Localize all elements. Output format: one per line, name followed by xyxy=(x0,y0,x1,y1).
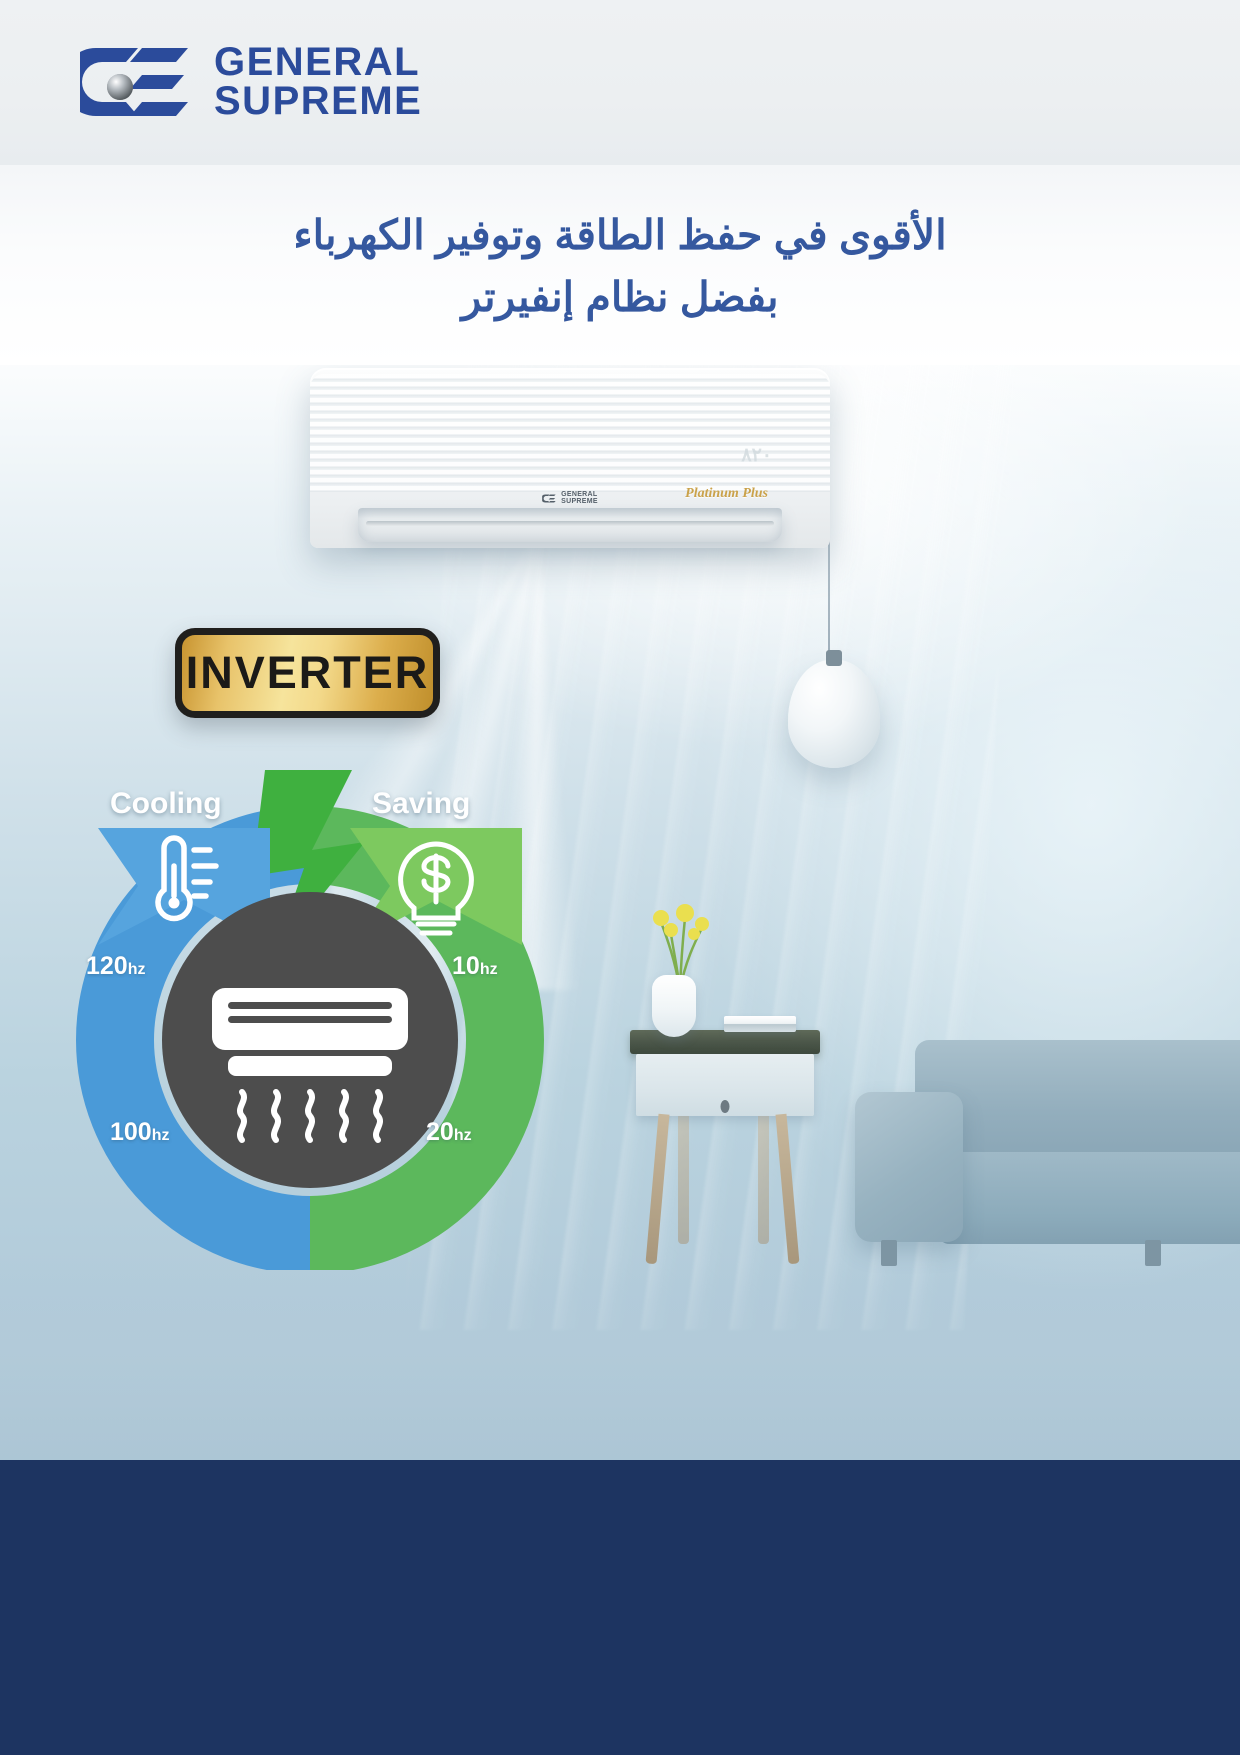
inverter-badge: INVERTER xyxy=(175,628,440,718)
table-leg xyxy=(678,1114,689,1244)
frequency-label-10hz: 10hz xyxy=(452,952,498,981)
general-supreme-monogram-icon xyxy=(542,493,556,504)
ac-louver xyxy=(358,508,782,542)
side-table xyxy=(630,1030,820,1270)
table-leg xyxy=(775,1114,799,1264)
page-title: الأقوى في حفظ الطاقة وتوفير الكهرباء بفض… xyxy=(0,205,1240,328)
sofa xyxy=(855,1040,1240,1310)
flower-vase xyxy=(652,975,696,1037)
sofa-seat xyxy=(939,1152,1240,1244)
cooling-label: Cooling xyxy=(110,787,222,821)
sofa-foot xyxy=(1145,1240,1161,1266)
table-top xyxy=(630,1030,820,1054)
air-conditioner-icon xyxy=(212,988,408,1140)
books-stack xyxy=(724,1016,796,1032)
ac-front-panel xyxy=(310,374,830,492)
ac-brand-mark: GENERAL SUPREME xyxy=(542,491,598,506)
headline-line-1: الأقوى في حفظ الطاقة وتوفير الكهرباء xyxy=(0,205,1240,267)
saving-label: Saving xyxy=(372,787,470,821)
headline-line-2: بفضل نظام إنفيرتر xyxy=(0,267,1240,329)
ac-display-readout: ۸۲۰ xyxy=(741,444,772,467)
drawer-knob xyxy=(721,1100,730,1113)
frequency-label-100hz: 100hz xyxy=(110,1118,170,1147)
table-leg xyxy=(645,1114,669,1264)
air-conditioner-product: ۸۲۰ GENERAL SUPREME Platinum Plus xyxy=(310,368,830,548)
frequency-label-20hz: 20hz xyxy=(426,1118,472,1147)
brand-name-line2: SUPREME xyxy=(214,82,422,121)
inverter-cycle-infographic: Cooling Saving 120hz 100hz 10hz 20hz xyxy=(60,740,560,1270)
table-leg xyxy=(758,1114,769,1244)
table-drawer xyxy=(636,1054,814,1116)
sofa-foot xyxy=(881,1240,897,1266)
ac-brand-line2: SUPREME xyxy=(561,498,598,505)
sofa-backrest xyxy=(915,1040,1240,1160)
general-supreme-monogram-icon xyxy=(80,42,192,122)
ac-brand-line1: GENERAL xyxy=(561,491,598,498)
sofa-armrest xyxy=(855,1092,963,1242)
lamp-cap xyxy=(826,650,842,666)
pendant-lamp xyxy=(788,660,880,768)
footer-bar xyxy=(0,1460,1240,1755)
ac-series-label: Platinum Plus xyxy=(685,486,768,502)
page-header: GENERAL SUPREME xyxy=(0,0,1240,165)
brand-logo: GENERAL SUPREME xyxy=(80,42,422,122)
brand-name-line1: GENERAL xyxy=(214,43,422,82)
inverter-badge-label: INVERTER xyxy=(186,647,430,699)
frequency-label-120hz: 120hz xyxy=(86,952,146,981)
